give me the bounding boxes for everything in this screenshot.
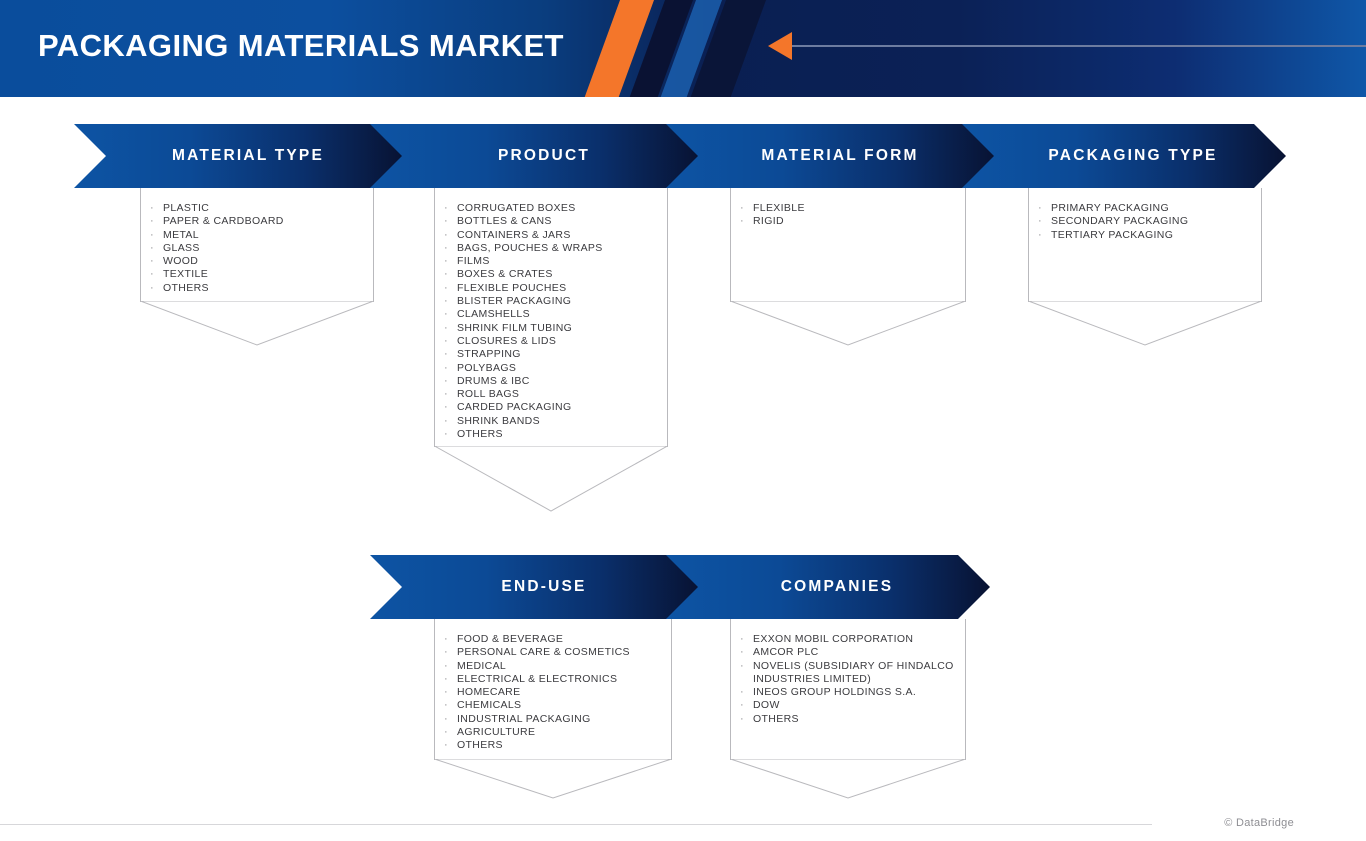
bullet-icon: ·: [435, 646, 457, 659]
bullet-icon: ·: [435, 673, 457, 686]
segment-title: MATERIAL FORM: [666, 147, 996, 165]
bullet-icon: ·: [435, 308, 457, 321]
list-item-label: CHEMICALS: [457, 699, 671, 712]
list-item-label: AGRICULTURE: [457, 726, 671, 739]
bullet-icon: ·: [435, 726, 457, 739]
list-item-label: POLYBAGS: [457, 362, 667, 375]
bullet-icon: ·: [731, 699, 753, 712]
list-item-label: PAPER & CARDBOARD: [163, 215, 373, 228]
segment-box-companies: ·EXXON MOBIL CORPORATION ·AMCOR PLC ·NOV…: [730, 619, 966, 760]
list-item-label: STRAPPING: [457, 348, 667, 361]
list-item-label: CORRUGATED BOXES: [457, 202, 667, 215]
segment-title: PACKAGING TYPE: [962, 147, 1286, 165]
bullet-icon: ·: [435, 699, 457, 712]
list-item: ·PAPER & CARDBOARD: [141, 215, 373, 228]
segment-banner-material-type[interactable]: MATERIAL TYPE: [74, 124, 404, 188]
list-item: ·RIGID: [731, 215, 965, 228]
list-item: ·OTHERS: [435, 428, 667, 441]
footer-copyright: © DataBridge: [1224, 817, 1294, 829]
list-item-label: FILMS: [457, 255, 667, 268]
bullet-icon: ·: [435, 713, 457, 726]
bullet-icon: ·: [435, 428, 457, 441]
list-item: ·DOW: [731, 699, 965, 712]
list-item: ·EXXON MOBIL CORPORATION: [731, 633, 965, 646]
segment-list-packaging-type: ·PRIMARY PACKAGING ·SECONDARY PACKAGING …: [1029, 188, 1261, 242]
list-item: ·CARDED PACKAGING: [435, 401, 667, 414]
list-item: ·MEDICAL: [435, 660, 671, 673]
bullet-icon: ·: [435, 375, 457, 388]
list-item: ·DRUMS & IBC: [435, 375, 667, 388]
bullet-icon: ·: [141, 282, 163, 295]
segment-banner-packaging-type[interactable]: PACKAGING TYPE: [962, 124, 1286, 188]
list-item-label: BOTTLES & CANS: [457, 215, 667, 228]
list-item: ·CLOSURES & LIDS: [435, 335, 667, 348]
segment-title: MATERIAL TYPE: [74, 147, 404, 165]
segment-box-point-material-type: [140, 301, 374, 346]
header-rule: [792, 45, 1366, 47]
segment-banner-material-form[interactable]: MATERIAL FORM: [666, 124, 996, 188]
list-item-label: OTHERS: [163, 282, 373, 295]
bullet-icon: ·: [435, 215, 457, 228]
list-item: ·AGRICULTURE: [435, 726, 671, 739]
list-item: ·FILMS: [435, 255, 667, 268]
segment-banner-product[interactable]: PRODUCT: [370, 124, 700, 188]
bullet-icon: ·: [435, 388, 457, 401]
list-item-label: OTHERS: [753, 713, 965, 726]
list-item-label: OTHERS: [457, 428, 667, 441]
list-item-label: CARDED PACKAGING: [457, 401, 667, 414]
segment-title: END-USE: [370, 578, 700, 596]
list-item-label: ROLL BAGS: [457, 388, 667, 401]
list-item: ·AMCOR PLC: [731, 646, 965, 659]
list-item-label: FLEXIBLE POUCHES: [457, 282, 667, 295]
list-item: ·ELECTRICAL & ELECTRONICS: [435, 673, 671, 686]
list-item: ·WOOD: [141, 255, 373, 268]
bullet-icon: ·: [435, 633, 457, 646]
list-item: ·FLEXIBLE POUCHES: [435, 282, 667, 295]
list-item-label: SHRINK FILM TUBING: [457, 322, 667, 335]
segment-box-point-product: [434, 446, 668, 512]
list-item: ·OTHERS: [731, 713, 965, 726]
bullet-icon: ·: [435, 401, 457, 414]
bullet-icon: ·: [435, 322, 457, 335]
list-item-label: RIGID: [753, 215, 965, 228]
bullet-icon: ·: [141, 229, 163, 242]
list-item-label: OTHERS: [457, 739, 671, 752]
list-item-label: METAL: [163, 229, 373, 242]
list-item: ·SECONDARY PACKAGING: [1029, 215, 1261, 228]
list-item-label: INEOS GROUP HOLDINGS S.A.: [753, 686, 965, 699]
segment-box-end-use: ·FOOD & BEVERAGE ·PERSONAL CARE & COSMET…: [434, 619, 672, 760]
list-item-label: DOW: [753, 699, 965, 712]
list-item-label: SHRINK BANDS: [457, 415, 667, 428]
segment-box-point-packaging-type: [1028, 301, 1262, 346]
list-item: ·BLISTER PACKAGING: [435, 295, 667, 308]
list-item-label: DRUMS & IBC: [457, 375, 667, 388]
list-item: ·OTHERS: [435, 739, 671, 752]
list-item: ·TERTIARY PACKAGING: [1029, 229, 1261, 242]
segment-box-packaging-type: ·PRIMARY PACKAGING ·SECONDARY PACKAGING …: [1028, 188, 1262, 302]
segment-list-companies: ·EXXON MOBIL CORPORATION ·AMCOR PLC ·NOV…: [731, 619, 965, 726]
list-item: ·OTHERS: [141, 282, 373, 295]
list-item: ·BAGS, POUCHES & WRAPS: [435, 242, 667, 255]
list-item: ·SHRINK FILM TUBING: [435, 322, 667, 335]
list-item-label: PRIMARY PACKAGING: [1051, 202, 1261, 215]
segment-list-material-type: ·PLASTIC ·PAPER & CARDBOARD ·METAL ·GLAS…: [141, 188, 373, 295]
bullet-icon: ·: [141, 215, 163, 228]
list-item: ·BOTTLES & CANS: [435, 215, 667, 228]
list-item: ·SHRINK BANDS: [435, 415, 667, 428]
bullet-icon: ·: [435, 229, 457, 242]
segment-title: PRODUCT: [370, 147, 700, 165]
list-item: ·INDUSTRIAL PACKAGING: [435, 713, 671, 726]
list-item: ·POLYBAGS: [435, 362, 667, 375]
list-item: ·CONTAINERS & JARS: [435, 229, 667, 242]
bullet-icon: ·: [435, 362, 457, 375]
list-item-label: PERSONAL CARE & COSMETICS: [457, 646, 671, 659]
list-item: ·STRAPPING: [435, 348, 667, 361]
list-item-label: HOMECARE: [457, 686, 671, 699]
list-item: ·CHEMICALS: [435, 699, 671, 712]
bullet-icon: ·: [731, 713, 753, 726]
list-item: ·CLAMSHELLS: [435, 308, 667, 321]
left-arrow-icon: [768, 32, 792, 60]
bullet-icon: ·: [731, 202, 753, 215]
list-item-label: BOXES & CRATES: [457, 268, 667, 281]
bullet-icon: ·: [435, 282, 457, 295]
segment-list-product: ·CORRUGATED BOXES ·BOTTLES & CANS ·CONTA…: [435, 188, 667, 441]
list-item: ·PERSONAL CARE & COSMETICS: [435, 646, 671, 659]
bullet-icon: ·: [435, 335, 457, 348]
list-item-label: AMCOR PLC: [753, 646, 965, 659]
list-item-label: GLASS: [163, 242, 373, 255]
list-item-label: BLISTER PACKAGING: [457, 295, 667, 308]
bullet-icon: ·: [1029, 229, 1051, 242]
list-item-label: FLEXIBLE: [753, 202, 965, 215]
list-item: ·BOXES & CRATES: [435, 268, 667, 281]
list-item-label: INDUSTRIAL PACKAGING: [457, 713, 671, 726]
list-item-label: CONTAINERS & JARS: [457, 229, 667, 242]
footer-divider: [0, 824, 1152, 825]
bullet-icon: ·: [731, 646, 753, 659]
bullet-icon: ·: [435, 202, 457, 215]
list-item-label: ELECTRICAL & ELECTRONICS: [457, 673, 671, 686]
page-title: PACKAGING MATERIALS MARKET: [38, 28, 564, 64]
list-item: ·INEOS GROUP HOLDINGS S.A.: [731, 686, 965, 699]
bullet-icon: ·: [141, 202, 163, 215]
list-item-label: TERTIARY PACKAGING: [1051, 229, 1261, 242]
bullet-icon: ·: [141, 255, 163, 268]
segment-list-material-form: ·FLEXIBLE ·RIGID: [731, 188, 965, 229]
bullet-icon: ·: [731, 686, 753, 699]
list-item-label: CLOSURES & LIDS: [457, 335, 667, 348]
list-item-label: PLASTIC: [163, 202, 373, 215]
bullet-icon: ·: [435, 660, 457, 673]
bullet-icon: ·: [435, 255, 457, 268]
bullet-icon: ·: [1029, 202, 1051, 215]
bullet-icon: ·: [435, 348, 457, 361]
segment-box-point-companies: [730, 759, 966, 799]
list-item-label: NOVELIS (SUBSIDIARY OF HINDALCO INDUSTRI…: [753, 660, 965, 687]
bullet-icon: ·: [435, 295, 457, 308]
bullet-icon: ·: [141, 268, 163, 281]
segment-box-product: ·CORRUGATED BOXES ·BOTTLES & CANS ·CONTA…: [434, 188, 668, 447]
list-item: ·TEXTILE: [141, 268, 373, 281]
segment-list-end-use: ·FOOD & BEVERAGE ·PERSONAL CARE & COSMET…: [435, 619, 671, 753]
segment-box-point-end-use: [434, 759, 672, 799]
segment-box-point-material-form: [730, 301, 966, 346]
bullet-icon: ·: [1029, 215, 1051, 228]
list-item: ·FOOD & BEVERAGE: [435, 633, 671, 646]
list-item-label: CLAMSHELLS: [457, 308, 667, 321]
list-item: ·CORRUGATED BOXES: [435, 202, 667, 215]
list-item-label: WOOD: [163, 255, 373, 268]
list-item-label: TEXTILE: [163, 268, 373, 281]
list-item: ·NOVELIS (SUBSIDIARY OF HINDALCO INDUSTR…: [731, 660, 965, 687]
list-item: ·METAL: [141, 229, 373, 242]
segment-box-material-type: ·PLASTIC ·PAPER & CARDBOARD ·METAL ·GLAS…: [140, 188, 374, 302]
list-item: ·PLASTIC: [141, 202, 373, 215]
segment-banner-companies[interactable]: COMPANIES: [666, 555, 990, 619]
page-header: PACKAGING MATERIALS MARKET: [0, 0, 1366, 97]
list-item: ·GLASS: [141, 242, 373, 255]
bullet-icon: ·: [731, 660, 753, 673]
segment-title: COMPANIES: [666, 578, 990, 596]
list-item-label: MEDICAL: [457, 660, 671, 673]
bullet-icon: ·: [731, 215, 753, 228]
list-item-label: FOOD & BEVERAGE: [457, 633, 671, 646]
list-item: ·HOMECARE: [435, 686, 671, 699]
bullet-icon: ·: [435, 415, 457, 428]
bullet-icon: ·: [435, 242, 457, 255]
segment-banner-end-use[interactable]: END-USE: [370, 555, 700, 619]
list-item-label: SECONDARY PACKAGING: [1051, 215, 1261, 228]
list-item: ·FLEXIBLE: [731, 202, 965, 215]
list-item: ·PRIMARY PACKAGING: [1029, 202, 1261, 215]
bullet-icon: ·: [141, 242, 163, 255]
bullet-icon: ·: [731, 633, 753, 646]
bullet-icon: ·: [435, 686, 457, 699]
bullet-icon: ·: [435, 739, 457, 752]
list-item: ·ROLL BAGS: [435, 388, 667, 401]
bullet-icon: ·: [435, 268, 457, 281]
list-item-label: EXXON MOBIL CORPORATION: [753, 633, 965, 646]
segment-box-material-form: ·FLEXIBLE ·RIGID: [730, 188, 966, 302]
list-item-label: BAGS, POUCHES & WRAPS: [457, 242, 667, 255]
